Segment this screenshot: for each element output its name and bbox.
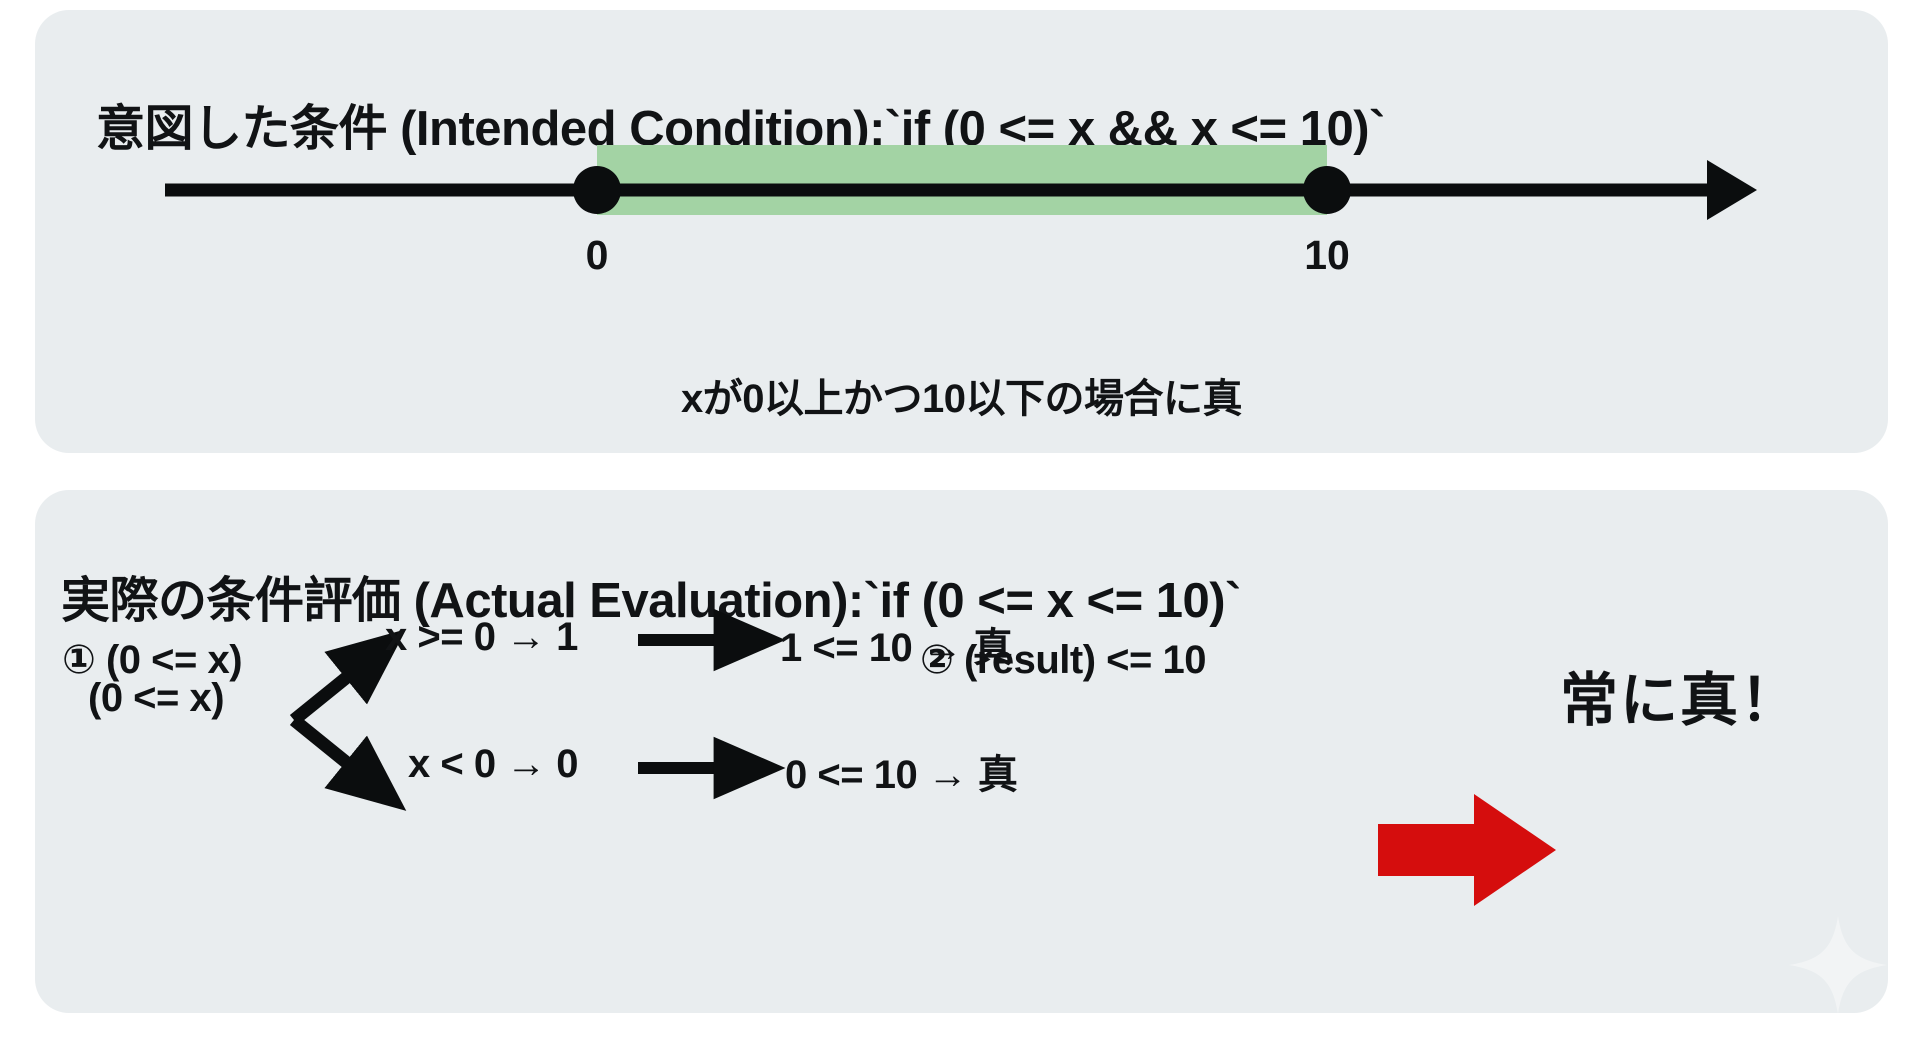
tick-label-0: 0 — [586, 232, 609, 279]
sparkle-icon — [1783, 910, 1888, 1013]
interval-highlight-band — [597, 145, 1327, 215]
endpoint-dot-10 — [1303, 166, 1351, 214]
branch-2-second-expression: 0 <= 10 → 真 — [785, 742, 1017, 800]
tick-label-10: 10 — [1304, 232, 1350, 279]
branch-1-first-expression: x >= 0 → 1 — [385, 615, 578, 660]
diagram-canvas: 意図した条件 (Intended Condition):`if (0 <= x … — [0, 0, 1920, 1047]
branch-2-first-expression: x < 0 → 0 — [408, 742, 578, 787]
conclusion-text: 常に真！ — [1560, 653, 1800, 737]
branch-1-second-expression: 1 <= 10 → 真 — [780, 615, 1012, 673]
intended-condition-panel: 意図した条件 (Intended Condition):`if (0 <= x … — [35, 10, 1888, 453]
endpoint-dot-0 — [573, 166, 621, 214]
actual-evaluation-title: 実際の条件評価 (Actual Evaluation):`if (0 <= x … — [61, 561, 1241, 632]
number-line-arrowhead-icon — [1707, 160, 1757, 220]
number-line-svg — [35, 10, 1888, 270]
number-line-graphic: 0 10 — [35, 10, 1888, 270]
source-expression: (0 <= x) — [88, 676, 224, 721]
number-line-caption: xが0以上かつ10以下の場合に真 — [35, 366, 1888, 424]
